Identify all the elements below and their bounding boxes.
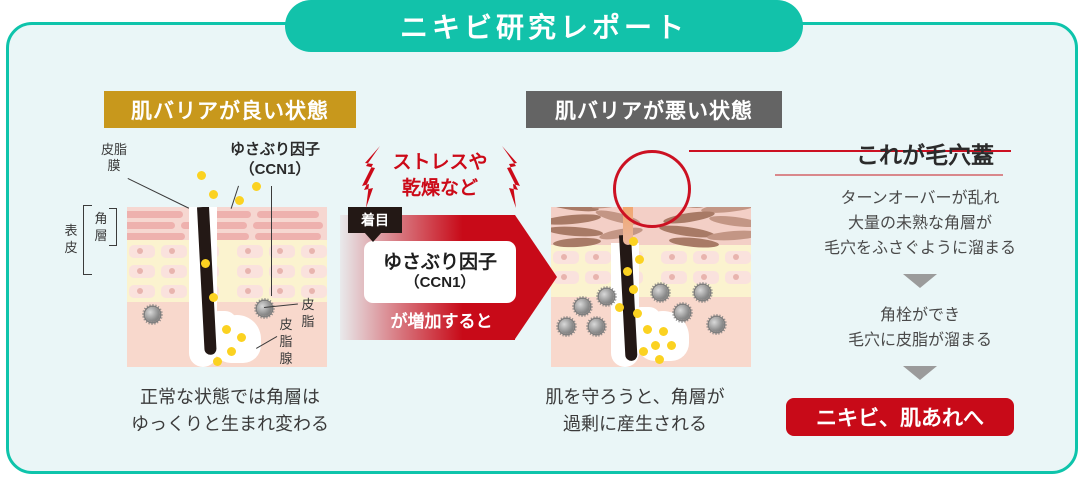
bacteria-icon (257, 301, 272, 316)
skin-cross-section-healthy (127, 207, 327, 367)
label-good-barrier-text: 肌バリアが良い状態 (131, 95, 329, 125)
infographic-root: ニキビ研究レポート 肌バリアが良い状態 肌バリアが悪い状態 (0, 0, 1084, 480)
bracket-stratum-corneum (109, 208, 117, 246)
bacteria-icon (145, 307, 160, 322)
pore-lid-underline (775, 174, 1003, 176)
ccn1-highlight-box: ゆさぶり因子 （CCN1） (364, 241, 516, 303)
bacteria-icon (575, 299, 590, 314)
outcome-step-1-line1: ターンオーバーが乱れ (775, 186, 1065, 211)
ccn1-callout-left-line1: ゆさぶり因子 (200, 140, 350, 160)
outcome-step-2-line1: 角栓ができ (775, 303, 1065, 328)
trigger-line2: 乾燥など (360, 176, 520, 202)
annotation-sebum-film: 皮脂膜 (97, 142, 131, 174)
label-bad-barrier: 肌バリアが悪い状態 (526, 91, 782, 128)
ccn1-box-main: ゆさぶり因子 (383, 252, 497, 274)
outcome-step-2-line2: 毛穴に皮脂が溜まる (775, 328, 1065, 353)
caption-damaged-line2: 過剰に産生される (500, 411, 770, 438)
skin-cross-section-damaged (551, 207, 751, 367)
annotation-sebaceous-gland: 皮脂腺 (277, 316, 295, 367)
bracket-epidermis (83, 205, 92, 275)
pore-highlight-circle (613, 150, 691, 228)
label-bad-barrier-text: 肌バリアが悪い状態 (555, 95, 753, 125)
flow-arrow-2-icon (903, 366, 937, 380)
annotation-stratum-corneum: 角層 (92, 210, 110, 244)
caption-damaged: 肌を守ろうと、角層が 過剰に産生される (500, 384, 770, 438)
bacteria-icon (709, 317, 724, 332)
page-title: ニキビ研究レポート (400, 6, 688, 46)
result-badge-text: ニキビ、肌あれへ (816, 402, 984, 432)
outcome-step-1-line3: 毛穴をふさぐように溜まる (775, 236, 1065, 261)
caption-damaged-line1: 肌を守ろうと、角層が (500, 384, 770, 411)
caption-healthy-line1: 正常な状態では角層は (85, 384, 375, 411)
caption-healthy: 正常な状態では角層は ゆっくりと生まれ変わる (85, 384, 375, 438)
lightning-bolt-right-icon (498, 144, 522, 210)
ccn1-callout-left-line2: （CCN1） (200, 160, 350, 180)
annotation-sebum: 皮脂 (299, 296, 317, 330)
leader-line-ccn1-b (271, 186, 272, 296)
pore-lid-headline: これが毛穴蓋 (790, 136, 1060, 170)
bacteria-icon (695, 285, 710, 300)
ccn1-increase-arrow: 着目 ゆさぶり因子 （CCN1） が増加すると (340, 215, 555, 340)
ccn1-box-sub: （CCN1） (405, 274, 476, 292)
trigger-callout: ストレスや 乾燥など (360, 146, 520, 212)
bacteria-icon (589, 319, 604, 334)
epidermis-layer (127, 240, 327, 302)
increase-suffix-text: が増加すると (364, 307, 519, 332)
ccn1-callout-left: ゆさぶり因子 （CCN1） (200, 140, 350, 180)
bacteria-icon (653, 285, 668, 300)
lightning-bolt-left-icon (360, 144, 384, 210)
bacteria-icon (559, 319, 574, 334)
arrow-head (515, 215, 557, 339)
outcome-step-1-line2: 大量の未熟な角層が (775, 211, 1065, 236)
label-good-barrier: 肌バリアが良い状態 (104, 91, 356, 128)
trigger-line1: ストレスや (360, 150, 520, 176)
bacteria-icon (599, 289, 614, 304)
flow-arrow-1-icon (903, 274, 937, 288)
bacteria-icon (675, 305, 690, 320)
annotation-epidermis: 表皮 (62, 222, 80, 256)
result-badge: ニキビ、肌あれへ (786, 398, 1014, 436)
title-banner: ニキビ研究レポート (285, 0, 803, 52)
focus-tag-text: 着目 (361, 210, 389, 230)
outcome-step-2: 角栓ができ 毛穴に皮脂が溜まる (775, 303, 1065, 353)
outcome-step-1: ターンオーバーが乱れ 大量の未熟な角層が 毛穴をふさぐように溜まる (775, 186, 1065, 261)
caption-healthy-line2: ゆっくりと生まれ変わる (85, 411, 375, 438)
